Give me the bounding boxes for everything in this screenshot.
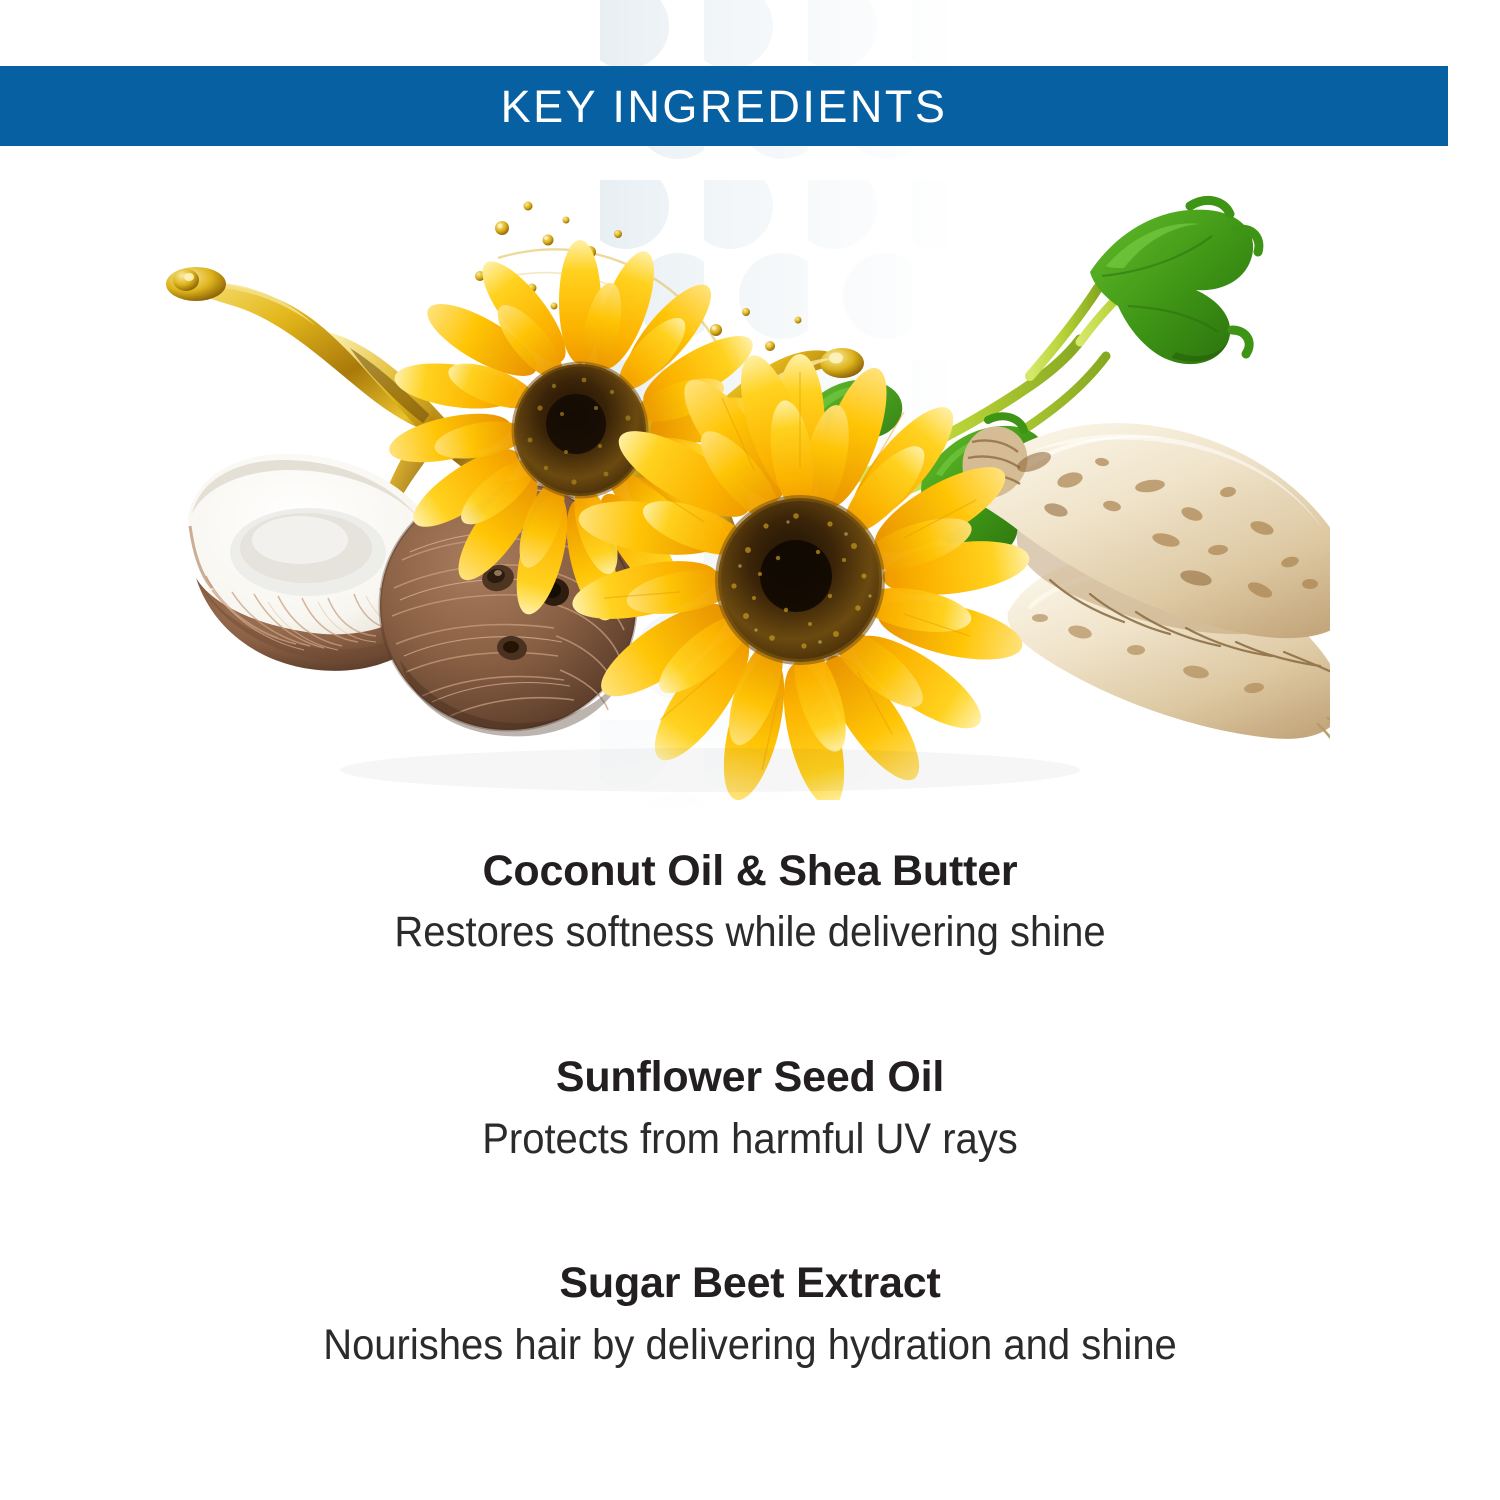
page-title: KEY INGREDIENTS [501,84,948,129]
ingredient-description: Protects from harmful UV rays [53,1114,1448,1166]
ingredient-name: Sunflower Seed Oil [0,1051,1500,1103]
ingredient-item-sugar-beet: Sugar Beet Extract Nourishes hair by del… [0,1257,1500,1371]
ingredients-photo [150,180,1330,800]
ingredient-name: Sugar Beet Extract [0,1257,1500,1309]
ingredient-item-sunflower: Sunflower Seed Oil Protects from harmful… [0,1051,1500,1165]
key-ingredients-panel: KEY INGREDIENTS [0,0,1500,1500]
ingredient-item-coconut: Coconut Oil & Shea Butter Restores softn… [0,845,1500,959]
ingredient-description: Nourishes hair by delivering hydration a… [53,1320,1448,1372]
ingredient-name: Coconut Oil & Shea Butter [0,845,1500,897]
ingredient-list: Coconut Oil & Shea Butter Restores softn… [0,845,1500,1371]
header-banner: KEY INGREDIENTS [0,66,1448,146]
sugar-beet-roots [963,423,1330,764]
ingredient-description: Restores softness while delivering shine [53,907,1448,959]
